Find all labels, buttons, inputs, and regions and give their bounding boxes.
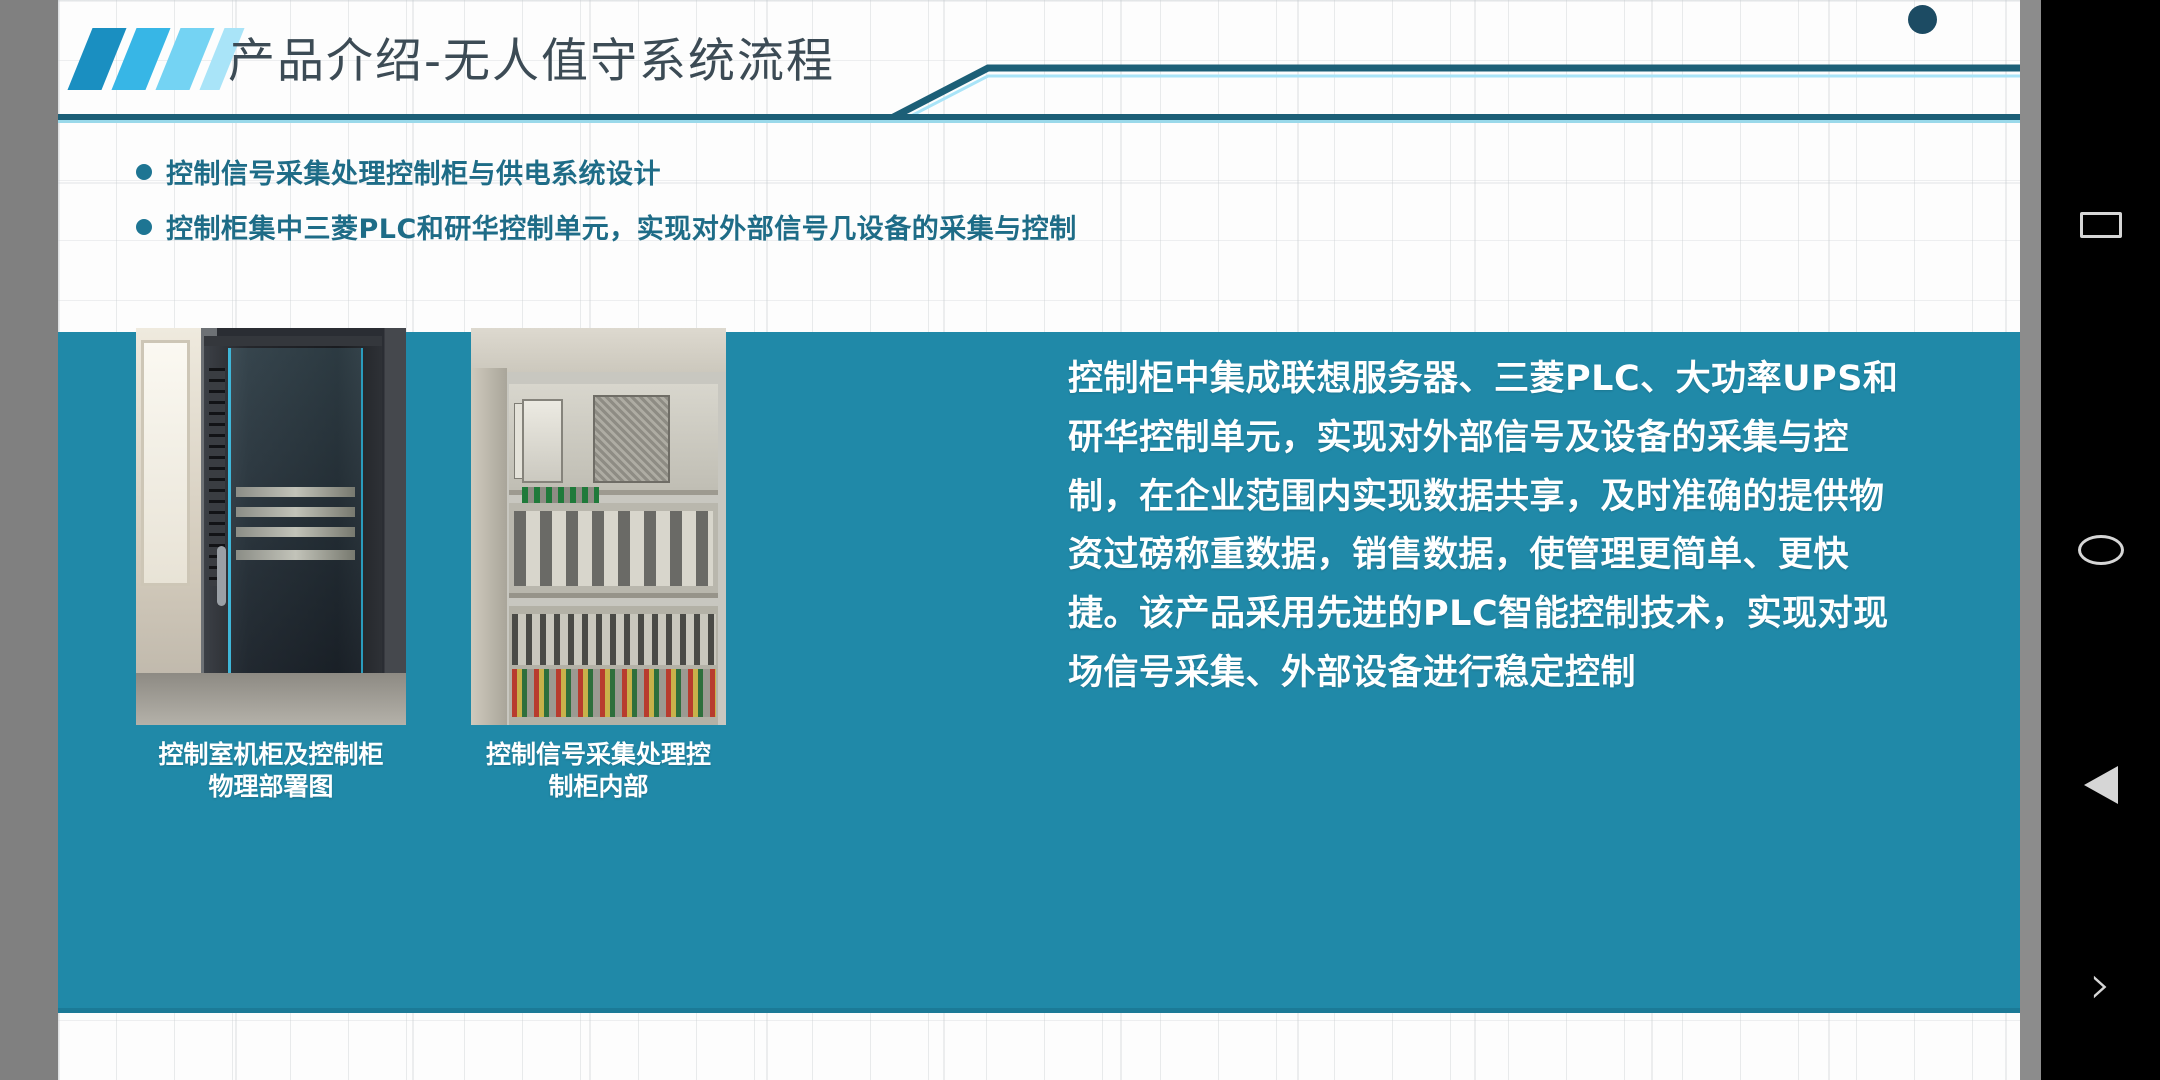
header-decoration-line — [818, 0, 2020, 120]
bullet-text: 控制信号采集处理控制柜与供电系统设计 — [166, 152, 661, 191]
body-paragraph: 控制柜中集成联想服务器、三菱PLC、大功率UPS和研华控制单元，实现对外部信号及… — [1068, 350, 1908, 703]
photo-control-room-rack — [136, 328, 406, 725]
accent-bars-icon — [76, 28, 246, 90]
photo-control-cabinet-interior — [471, 328, 726, 725]
figure-caption-line2: 物理部署图 — [136, 771, 406, 803]
slide-header: 产品介绍-无人值守系统流程 — [58, 0, 2020, 125]
left-margin — [0, 0, 58, 1080]
slide-canvas[interactable]: 产品介绍-无人值守系统流程 控制信号采集处理控制柜与供电系统设计 控制柜集中三菱… — [58, 0, 2020, 1080]
band-bottom-edge — [58, 1008, 2020, 1013]
back-button[interactable] — [2041, 740, 2160, 830]
figure-control-room-rack: 控制室机柜及控制柜 物理部署图 — [136, 328, 406, 803]
list-item: 控制柜集中三菱PLC和研华控制单元，实现对外部信号几设备的采集与控制 — [136, 207, 1636, 246]
square-icon — [2080, 212, 2122, 238]
next-page-button[interactable]: › — [2041, 940, 2160, 1030]
page-title: 产品介绍-无人值守系统流程 — [228, 22, 835, 91]
figure-caption: 控制室机柜及控制柜 物理部署图 — [136, 739, 406, 803]
list-item: 控制信号采集处理控制柜与供电系统设计 — [136, 152, 1636, 191]
bullet-list: 控制信号采集处理控制柜与供电系统设计 控制柜集中三菱PLC和研华控制单元，实现对… — [136, 152, 1636, 262]
header-divider-highlight — [58, 120, 2020, 123]
bullet-dot-icon — [136, 219, 152, 235]
app-root: 产品介绍-无人值守系统流程 控制信号采集处理控制柜与供电系统设计 控制柜集中三菱… — [0, 0, 2160, 1080]
android-navigation-bar: › — [2041, 0, 2160, 1080]
recents-button[interactable] — [2041, 180, 2160, 270]
bullet-text: 控制柜集中三菱PLC和研华控制单元，实现对外部信号几设备的采集与控制 — [166, 207, 1077, 246]
home-button[interactable] — [2041, 505, 2160, 595]
figure-caption: 控制信号采集处理控 制柜内部 — [471, 739, 726, 803]
triangle-left-icon — [2084, 766, 2118, 804]
figure-control-cabinet-interior: 控制信号采集处理控 制柜内部 — [471, 328, 726, 803]
header-endpoint-dot-icon — [1908, 5, 1937, 34]
chevron-right-icon: › — [2090, 958, 2112, 1012]
figure-caption-line1: 控制信号采集处理控 — [471, 739, 726, 771]
vertical-scrollbar[interactable] — [2020, 0, 2041, 1080]
figure-caption-line1: 控制室机柜及控制柜 — [136, 739, 406, 771]
circle-icon — [2078, 535, 2124, 565]
content-band: 控制室机柜及控制柜 物理部署图 — [58, 332, 2020, 1013]
bullet-dot-icon — [136, 164, 152, 180]
figure-caption-line2: 制柜内部 — [471, 771, 726, 803]
